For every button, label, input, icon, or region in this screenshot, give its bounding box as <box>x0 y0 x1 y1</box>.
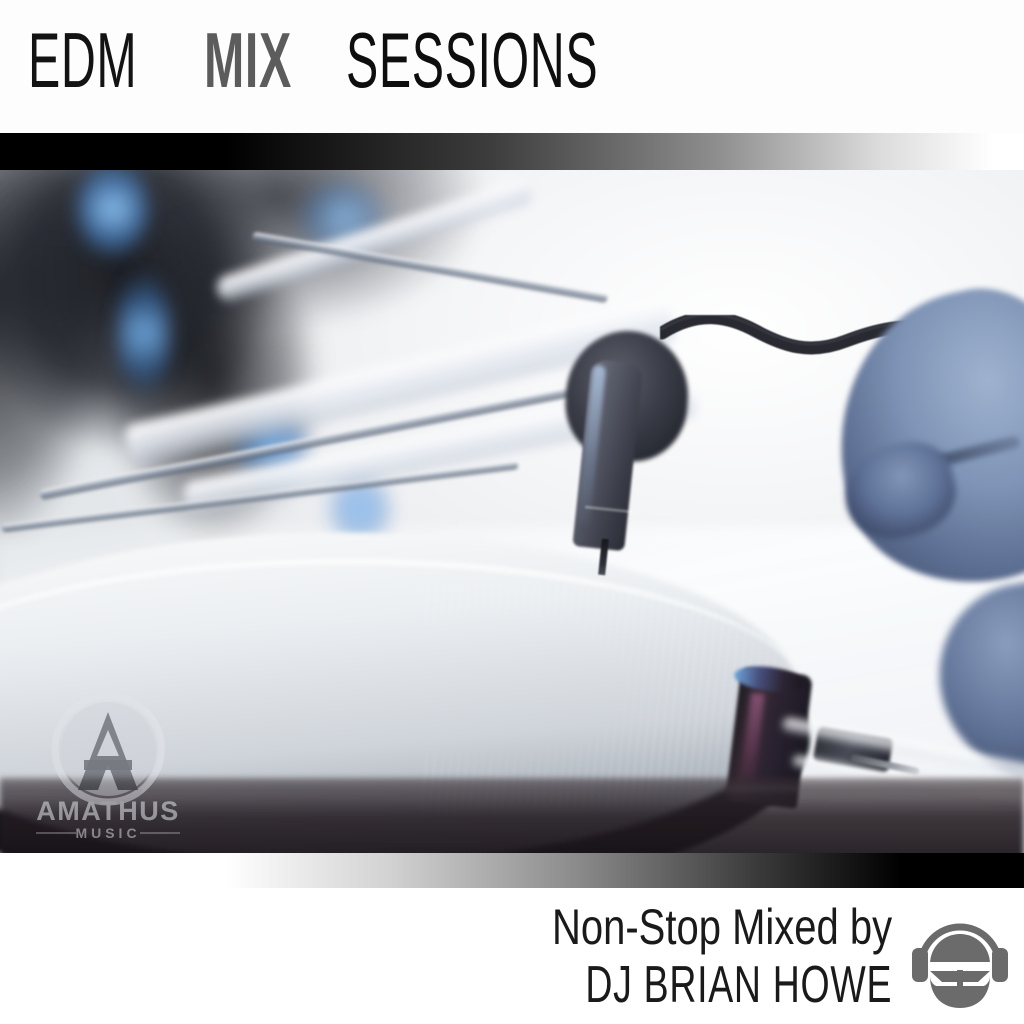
credit-text-block: Non-Stop Mixed by DJ BRIAN HOWE <box>466 898 892 1014</box>
title-word-sessions: SESSIONS <box>346 21 598 99</box>
album-title: EDMMIXSESSIONS <box>28 21 753 99</box>
bottom-gradient-bar <box>0 853 1024 888</box>
credit-band: Non-Stop Mixed by DJ BRIAN HOWE <box>0 888 1024 1024</box>
amathus-monogram-ring <box>55 696 163 802</box>
amathus-music-logo: AMATHUS MUSIC <box>22 686 194 848</box>
title-word-edm: EDM <box>28 21 137 99</box>
top-gradient-bar <box>0 133 1024 170</box>
amathus-subtext: MUSIC <box>75 825 140 841</box>
amathus-wordmark: AMATHUS <box>36 796 179 826</box>
amathus-subtext-group: MUSIC <box>36 825 180 841</box>
title-word-mix: MIX <box>204 21 292 99</box>
album-cover: EDMMIXSESSIONS <box>0 0 1024 1024</box>
credit-line-dj-name: DJ BRIAN HOWE <box>585 956 892 1014</box>
title-band: EDMMIXSESSIONS <box>0 0 1024 133</box>
blue-led-highlight <box>78 163 148 255</box>
dj-head-headphones-icon <box>904 904 1016 1016</box>
dj-head-headphones-icon-art <box>904 904 1016 1016</box>
amathus-logo-artwork: AMATHUS MUSIC <box>22 686 194 848</box>
blue-led-highlight <box>118 273 170 393</box>
credit-line-mixed-by: Non-Stop Mixed by <box>551 898 892 956</box>
amathus-wordmark-text: AMATHUS <box>36 796 179 826</box>
